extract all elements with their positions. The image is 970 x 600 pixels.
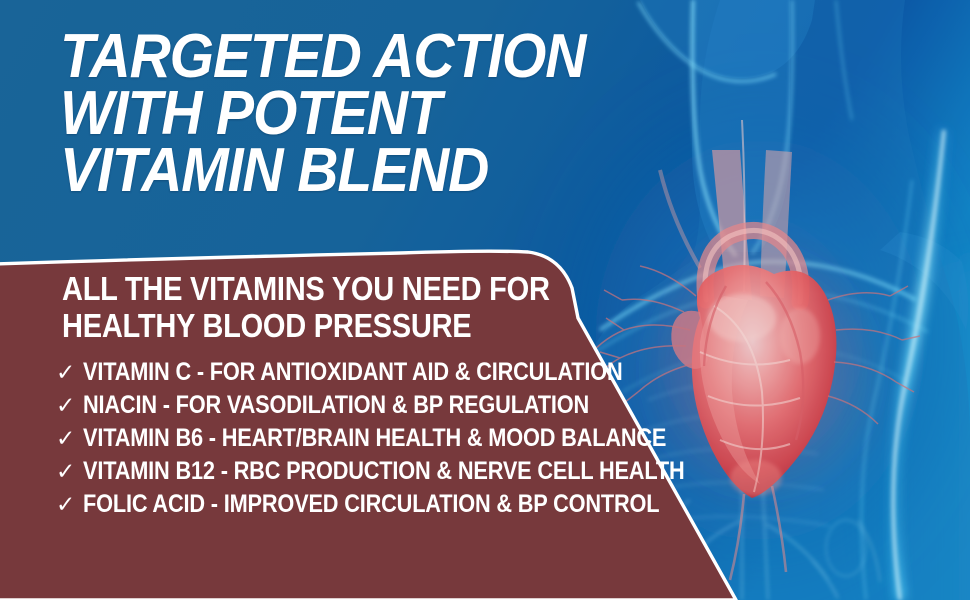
subheading-line-2: HEALTHY BLOOD PRESSURE (62, 307, 553, 344)
benefit-label: VITAMIN C - FOR ANTIOXIDANT AID & CIRCUL… (83, 358, 623, 386)
benefits-list: ✓ VITAMIN C - FOR ANTIOXIDANT AID & CIRC… (0, 358, 620, 518)
benefit-item: ✓ VITAMIN C - FOR ANTIOXIDANT AID & CIRC… (56, 358, 620, 386)
check-icon: ✓ (56, 424, 83, 452)
headline-line-1: TARGETED ACTION (60, 28, 585, 85)
check-icon: ✓ (56, 457, 83, 485)
check-icon: ✓ (56, 391, 83, 419)
benefit-item: ✓ VITAMIN B6 - HEART/BRAIN HEALTH & MOOD… (56, 424, 620, 452)
headline: TARGETED ACTION WITH POTENT VITAMIN BLEN… (60, 28, 631, 199)
vitamin-banner: TARGETED ACTION WITH POTENT VITAMIN BLEN… (0, 0, 970, 600)
benefit-item: ✓ NIACIN - FOR VASODILATION & BP REGULAT… (56, 391, 620, 419)
panel-subheading: ALL THE VITAMINS YOU NEED FOR HEALTHY BL… (62, 270, 620, 344)
benefit-label: VITAMIN B12 - RBC PRODUCTION & NERVE CEL… (83, 457, 684, 485)
check-icon: ✓ (56, 490, 83, 518)
check-icon: ✓ (56, 358, 83, 386)
headline-line-3: VITAMIN BLEND (60, 142, 585, 199)
benefit-label: FOLIC ACID - IMPROVED CIRCULATION & BP C… (83, 490, 659, 518)
subheading-line-1: ALL THE VITAMINS YOU NEED FOR (62, 270, 553, 307)
benefit-label: VITAMIN B6 - HEART/BRAIN HEALTH & MOOD B… (83, 424, 666, 452)
benefit-item: ✓ VITAMIN B12 - RBC PRODUCTION & NERVE C… (56, 457, 620, 485)
headline-line-2: WITH POTENT (60, 85, 585, 142)
benefit-item: ✓ FOLIC ACID - IMPROVED CIRCULATION & BP… (56, 490, 620, 518)
benefit-label: NIACIN - FOR VASODILATION & BP REGULATIO… (83, 391, 589, 419)
panel-content: ALL THE VITAMINS YOU NEED FOR HEALTHY BL… (0, 270, 620, 523)
